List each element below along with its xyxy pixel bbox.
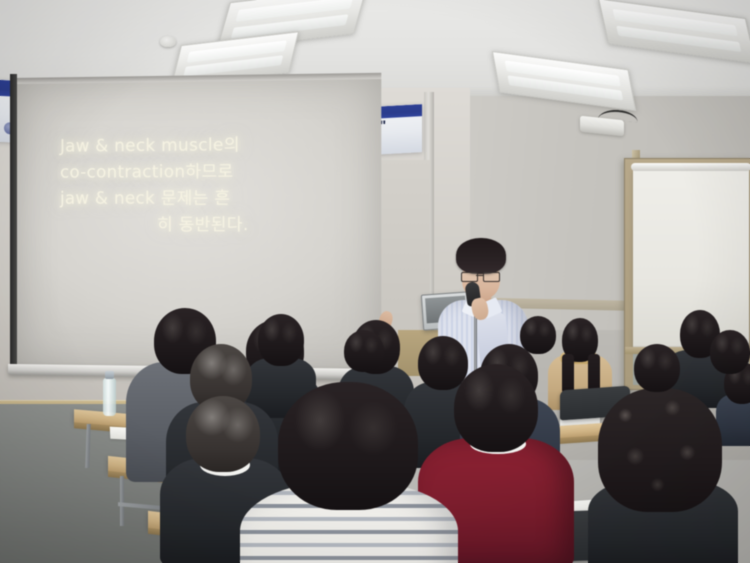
desk-leg [120,476,124,526]
slide-line-3: jaw & neck 문제는 흔 [60,185,349,212]
person-head [344,330,384,372]
person-head [278,382,418,510]
person-head [520,316,556,354]
lens-right [483,272,500,282]
person-head [710,330,750,374]
slide-line-2: co-contraction하므로 [60,158,349,186]
slide-text-block: Jaw & neck muscle의 co-contraction하므로 jaw… [60,131,349,238]
lecture-hall-photo: 의 집중 경계" Jaw & neck muscle의 co-contracti… [0,0,750,563]
screen-left-edge [10,74,17,374]
blind-roller [631,163,750,171]
person-head [598,388,722,512]
presenter-hair [456,238,506,274]
person-head [634,344,680,392]
smoke-detector-icon [160,36,176,47]
audience-member-foreground [240,382,458,563]
bottle-cap [105,371,114,379]
slide-line-1: Jaw & neck muscle의 [60,131,349,160]
eyeglasses-icon [461,272,501,280]
water-bottle [103,378,116,416]
audience-member [588,388,738,563]
slide-line-4: 히 동반된다. [60,212,349,239]
person-head [454,364,538,452]
lens-left [461,272,478,282]
glasses-bridge [476,275,483,276]
